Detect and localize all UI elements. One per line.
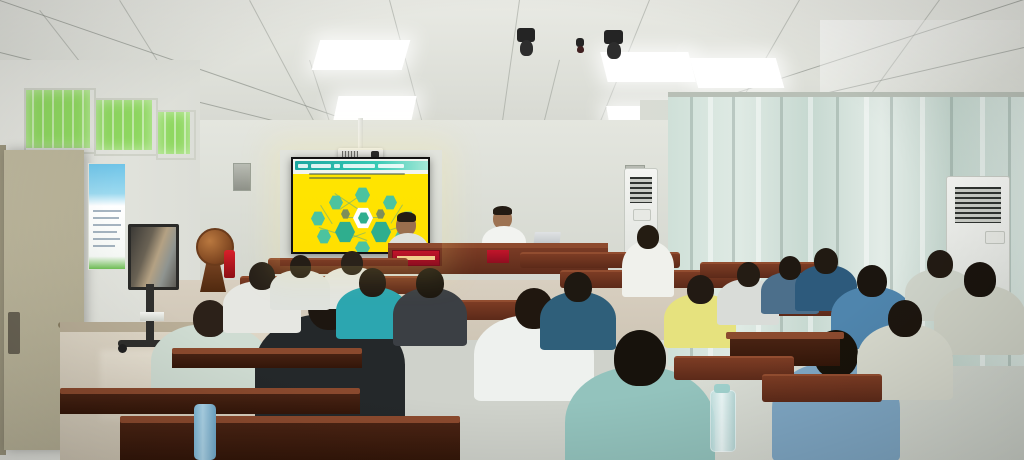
audience-member	[622, 225, 674, 303]
bench-front-right	[762, 374, 882, 402]
attendee-head	[290, 255, 311, 278]
wall-speaker-left	[233, 163, 251, 191]
television-monitor	[128, 224, 179, 290]
lecture-hall-photo	[0, 0, 1024, 460]
door-lock-icon	[8, 312, 20, 354]
attendee-head	[888, 300, 922, 337]
hex-node-left	[311, 211, 325, 226]
spotlight-left-lens-icon	[520, 40, 533, 56]
panel-light-4	[690, 58, 785, 88]
audience-member	[270, 255, 330, 316]
hex-node-upper-right	[383, 195, 397, 210]
slide-subtitle-lines	[309, 173, 409, 181]
desk-row-mid-left	[172, 352, 362, 368]
water-bottle-cap-icon	[714, 384, 730, 393]
desk-row-front-center	[120, 420, 460, 460]
attendee-head	[737, 262, 760, 287]
attendee-torso	[622, 241, 674, 297]
spotlight-right-lens-icon	[607, 42, 621, 59]
monitor-caster-wheel	[118, 344, 127, 353]
panel-light-2	[333, 96, 416, 120]
panel-light-1	[312, 40, 411, 70]
slide-title-bar	[295, 161, 428, 170]
red-name-plate-2	[487, 250, 509, 263]
hex-node-base-left	[335, 221, 355, 243]
audience-member	[393, 268, 467, 354]
camera-lens-icon	[577, 46, 584, 53]
hex-node-top	[355, 187, 370, 203]
bench-right-top	[726, 332, 844, 339]
projector-mount-pole	[358, 118, 363, 150]
water-bottle-right	[710, 390, 736, 452]
attendee-head	[416, 268, 444, 298]
attendee-head	[687, 275, 714, 304]
attendee-head	[614, 330, 666, 386]
bench-mid-left-top	[172, 348, 362, 354]
attendee-head	[637, 225, 659, 249]
attendee-head	[564, 272, 592, 302]
water-bottle-front	[194, 404, 216, 460]
attendee-head	[964, 262, 996, 297]
bench-front-center-top	[120, 416, 460, 423]
attendee-head	[857, 265, 887, 297]
wall-poster	[88, 163, 126, 270]
bench-front-left-top	[60, 388, 360, 394]
attendee-head	[193, 300, 227, 337]
curtain-rail	[668, 92, 1024, 97]
attendee-head	[359, 268, 386, 297]
